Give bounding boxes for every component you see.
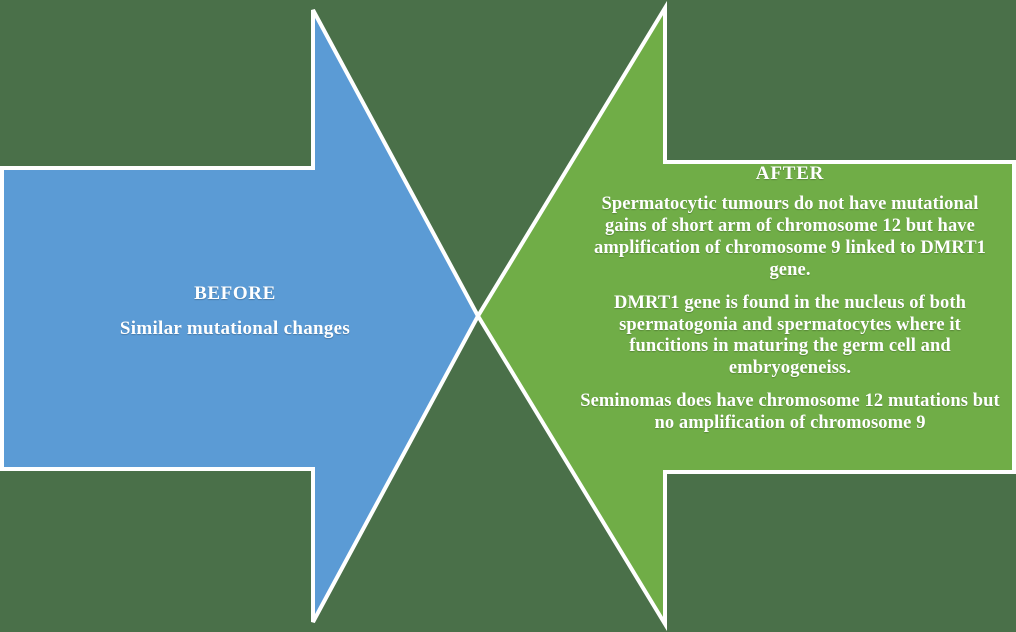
before-subtitle: Similar mutational changes <box>20 318 450 340</box>
diagram-canvas: BEFORE Similar mutational changes AFTER … <box>0 0 1016 632</box>
before-title: BEFORE <box>20 283 450 305</box>
after-paragraph-1: Spermatocytic tumours do not have mutati… <box>580 194 1000 281</box>
after-paragraph-3: Seminomas does have chromosome 12 mutati… <box>580 391 1000 435</box>
after-paragraph-2: DMRT1 gene is found in the nucleus of bo… <box>580 293 1000 380</box>
after-title: AFTER <box>580 163 1000 185</box>
after-text-block: AFTER Spermatocytic tumours do not have … <box>580 163 1000 435</box>
before-text-block: BEFORE Similar mutational changes <box>20 283 450 341</box>
